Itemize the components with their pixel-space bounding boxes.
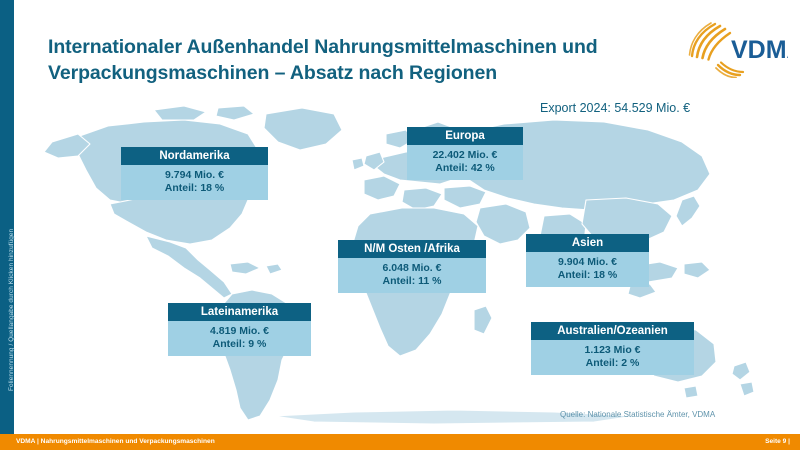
region-name-europa: Europa <box>407 127 523 145</box>
region-share-nahost-afrika: Anteil: 11 % <box>338 275 486 288</box>
region-value-australien-ozeanien: 1.123 Mio € <box>531 344 694 357</box>
footer-left-label: VDMA | Nahrungsmittelmaschinen und Verpa… <box>16 434 215 450</box>
region-box-europa: Europa 22.402 Mio. € Anteil: 42 % <box>407 127 523 180</box>
vdma-logo: VDMA <box>684 20 788 78</box>
region-share-europa: Anteil: 42 % <box>407 162 523 175</box>
region-box-australien-ozeanien: Australien/Ozeanien 1.123 Mio € Anteil: … <box>531 322 694 375</box>
region-value-nordamerika: 9.794 Mio. € <box>121 169 268 182</box>
region-value-lateinamerika: 4.819 Mio. € <box>168 325 311 338</box>
region-share-lateinamerika: Anteil: 9 % <box>168 338 311 351</box>
page-title: Internationaler Außenhandel Nahrungsmitt… <box>48 34 648 86</box>
region-share-australien-ozeanien: Anteil: 2 % <box>531 357 694 370</box>
region-name-asien: Asien <box>526 234 649 252</box>
region-box-asien: Asien 9.904 Mio. € Anteil: 18 % <box>526 234 649 287</box>
page-title-line2: Verpackungsmaschinen – Absatz nach Regio… <box>48 60 648 86</box>
region-box-nordamerika: Nordamerika 9.794 Mio. € Anteil: 18 % <box>121 147 268 200</box>
source-note: Quelle: Nationale Statistische Ämter, VD… <box>560 410 715 419</box>
sidebar-note-text: Foliennennung / Quellangabe durch Klicke… <box>5 111 19 391</box>
region-values-asien: 9.904 Mio. € Anteil: 18 % <box>526 252 649 287</box>
region-values-nahost-afrika: 6.048 Mio. € Anteil: 11 % <box>338 258 486 293</box>
left-accent-bar: Foliennennung / Quellangabe durch Klicke… <box>0 0 14 434</box>
region-name-australien-ozeanien: Australien/Ozeanien <box>531 322 694 340</box>
vdma-logo-text: VDMA <box>731 36 788 64</box>
region-share-nordamerika: Anteil: 18 % <box>121 182 268 195</box>
region-values-lateinamerika: 4.819 Mio. € Anteil: 9 % <box>168 321 311 356</box>
region-name-nahost-afrika: N/M Osten /Afrika <box>338 240 486 258</box>
region-box-nahost-afrika: N/M Osten /Afrika 6.048 Mio. € Anteil: 1… <box>338 240 486 293</box>
region-value-nahost-afrika: 6.048 Mio. € <box>338 262 486 275</box>
region-value-asien: 9.904 Mio. € <box>526 256 649 269</box>
footer-bar: VDMA | Nahrungsmittelmaschinen und Verpa… <box>0 434 800 450</box>
region-share-asien: Anteil: 18 % <box>526 269 649 282</box>
region-values-nordamerika: 9.794 Mio. € Anteil: 18 % <box>121 165 268 200</box>
page-title-line1: Internationaler Außenhandel Nahrungsmitt… <box>48 34 648 60</box>
region-name-lateinamerika: Lateinamerika <box>168 303 311 321</box>
region-values-europa: 22.402 Mio. € Anteil: 42 % <box>407 145 523 180</box>
region-value-europa: 22.402 Mio. € <box>407 149 523 162</box>
region-values-australien-ozeanien: 1.123 Mio € Anteil: 2 % <box>531 340 694 375</box>
slide-canvas: Foliennennung / Quellangabe durch Klicke… <box>0 0 800 450</box>
vdma-logo-mark: VDMA <box>684 20 788 78</box>
footer-page-label: Seite 9 | <box>765 434 790 450</box>
region-name-nordamerika: Nordamerika <box>121 147 268 165</box>
region-box-lateinamerika: Lateinamerika 4.819 Mio. € Anteil: 9 % <box>168 303 311 356</box>
